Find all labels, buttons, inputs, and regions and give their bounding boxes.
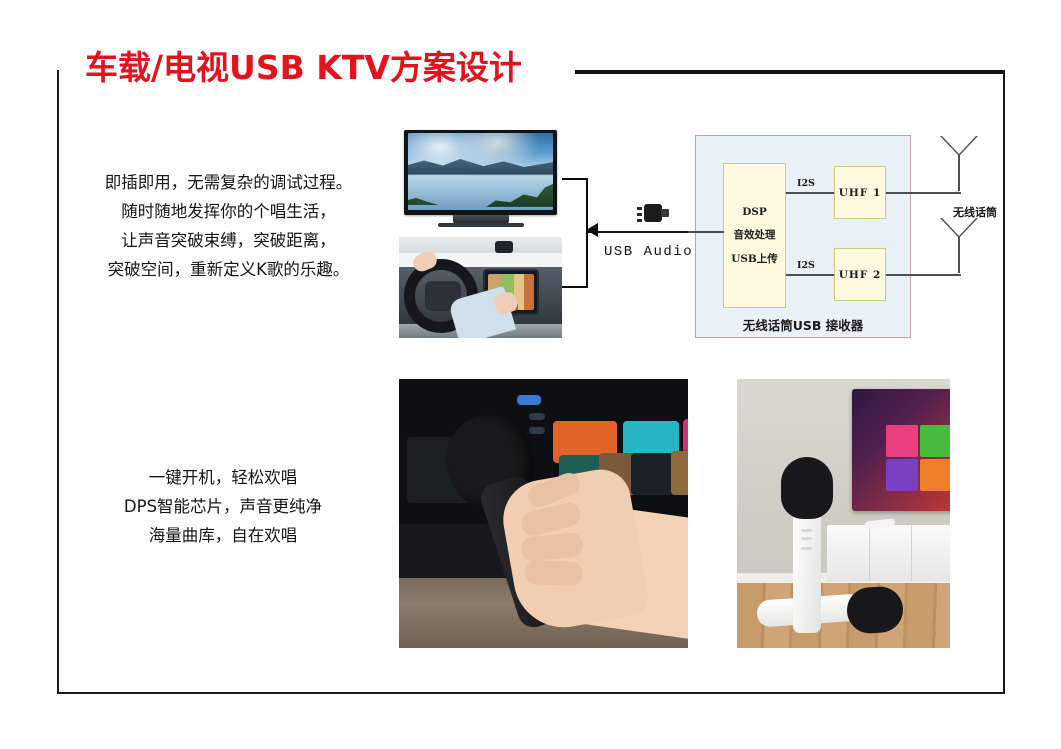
car-interior-photo xyxy=(399,237,562,338)
tv-bezel xyxy=(404,130,557,215)
feature-line-2: DPS智能芯片，声音更纯净 xyxy=(78,492,368,521)
mic-in-car-photo xyxy=(399,379,688,648)
car-rearview-mirror xyxy=(495,241,513,253)
receiver-label: 无线话筒USB 接收器 xyxy=(695,315,911,334)
microphone-1-foam-head xyxy=(781,457,833,519)
intro-line-4: 突破空间，重新定义K歌的乐趣。 xyxy=(76,255,381,284)
usb-pin-bottom xyxy=(637,219,642,222)
antenna-2-mast xyxy=(958,237,960,273)
usb-shell xyxy=(644,204,662,222)
antenna-2-triangle-inner xyxy=(942,218,976,236)
tile-thumb-3 xyxy=(631,453,675,495)
antenna-1-mast xyxy=(958,155,960,191)
room-tv xyxy=(852,389,950,511)
tv-foot xyxy=(438,223,524,227)
source-bracket xyxy=(562,178,588,288)
dsp-label-3: USB上传 xyxy=(731,251,778,266)
features-text-block: 一键开机，轻松欢唱 DPS智能芯片，声音更纯净 海量曲库，自在欢唱 xyxy=(78,463,368,550)
tile-chip-3 xyxy=(529,427,545,434)
wire-uhf2-to-antenna2 xyxy=(886,274,961,276)
uhf1-label: UHF 1 xyxy=(839,187,882,199)
cabinet-seam-1 xyxy=(869,525,870,581)
finger-4 xyxy=(525,560,584,586)
tv-tile-green xyxy=(920,425,950,457)
tile-chip-1 xyxy=(517,395,541,405)
tv-tile-purple xyxy=(886,459,918,491)
dsp-label-2: 音效处理 xyxy=(734,227,776,242)
cabinet-seam-2 xyxy=(911,525,912,581)
microphone-1-button-2 xyxy=(801,537,812,540)
antenna-1-icon xyxy=(940,136,978,156)
usb-pin-top xyxy=(637,207,642,210)
wireless-mic-label: 无线话筒 xyxy=(953,204,997,220)
tv-tile-orange xyxy=(920,459,950,491)
usb-connection-line xyxy=(588,231,688,233)
intro-line-2: 随时随地发挥你的个唱生活， xyxy=(76,197,381,226)
mic-in-room-photo xyxy=(737,379,950,648)
dsp-label-1: DSP xyxy=(742,206,767,218)
microphone-1-button-1 xyxy=(801,529,812,532)
room-cabinet xyxy=(827,525,950,581)
wire-dsp-to-uhf2 xyxy=(786,274,834,276)
intro-line-1: 即插即用，无需复杂的调试过程。 xyxy=(76,168,381,197)
usb-tip xyxy=(661,209,669,217)
slide-page: 车载/电视USB KTV方案设计 即插即用，无需复杂的调试过程。 随时随地发挥你… xyxy=(0,0,1061,749)
uhf2-label: UHF 2 xyxy=(839,269,882,281)
usb-audio-label: USB Audio xyxy=(604,244,693,260)
usb-pin-mid xyxy=(637,213,642,216)
uhf1-block: UHF 1 xyxy=(834,166,886,219)
tv-mountain-shape xyxy=(408,155,553,175)
tv-screen xyxy=(408,133,553,210)
tile-chip-2 xyxy=(529,413,545,420)
feature-line-1: 一键开机，轻松欢唱 xyxy=(78,463,368,492)
microphone-1-button-3 xyxy=(801,547,812,550)
tile-thumb-4 xyxy=(671,451,688,495)
page-title: 车载/电视USB KTV方案设计 xyxy=(85,41,522,89)
wire-uhf1-to-antenna1 xyxy=(886,192,961,194)
i2s-label-bottom: I2S xyxy=(797,260,815,271)
usb-connector-icon xyxy=(634,203,668,223)
tv-tile-pink xyxy=(886,425,918,457)
intro-text-block: 即插即用，无需复杂的调试过程。 随时随地发挥你的个唱生活， 让声音突破束缚，突破… xyxy=(76,168,381,284)
intro-line-3: 让声音突破束缚，突破距离， xyxy=(76,226,381,255)
uhf2-block: UHF 2 xyxy=(834,248,886,301)
wire-usb-to-dsp xyxy=(688,231,724,233)
feature-line-3: 海量曲库，自在欢唱 xyxy=(78,521,368,550)
dsp-block: DSP 音效处理 USB上传 xyxy=(723,163,786,308)
usb-arrow-head xyxy=(586,223,598,237)
wire-dsp-to-uhf1 xyxy=(786,192,834,194)
i2s-label-top: I2S xyxy=(797,178,815,189)
antenna-2-icon xyxy=(940,218,978,238)
tv-photo xyxy=(399,127,562,231)
antenna-1-triangle-inner xyxy=(942,136,976,154)
